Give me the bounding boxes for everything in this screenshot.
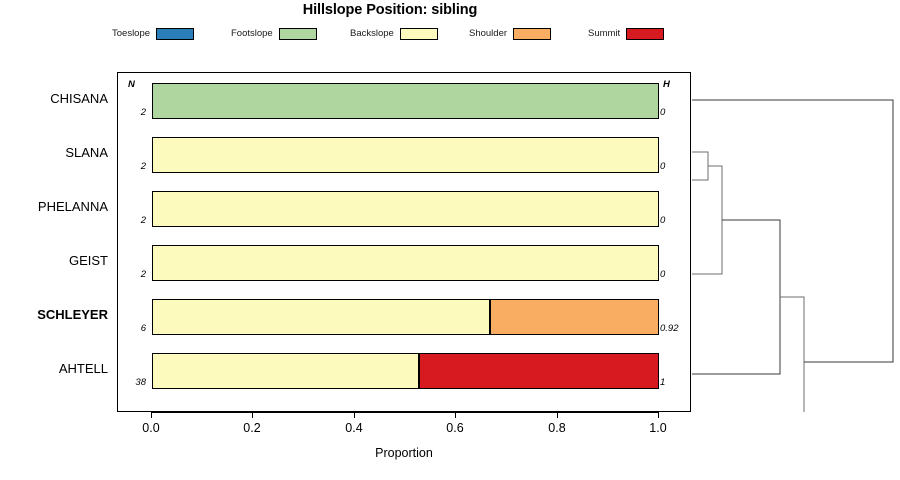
x-tick bbox=[252, 412, 253, 418]
n-value-phelanna: 2 bbox=[118, 215, 146, 226]
legend-label: Toeslope bbox=[112, 26, 150, 42]
bar-segment-backslope bbox=[152, 299, 490, 335]
stacked-bar-phelanna bbox=[152, 191, 659, 227]
category-label-ahtell: AHTELL bbox=[0, 361, 108, 376]
x-tick bbox=[354, 412, 355, 418]
x-tick bbox=[455, 412, 456, 418]
stacked-bar-geist bbox=[152, 245, 659, 281]
legend-swatch-toeslope bbox=[156, 28, 194, 40]
legend-swatch-footslope bbox=[279, 28, 317, 40]
legend-item-footslope: Footslope bbox=[231, 26, 317, 42]
bar-segment-backslope bbox=[152, 353, 419, 389]
h-value-slana: 0 bbox=[660, 161, 690, 172]
legend-label: Footslope bbox=[231, 26, 273, 42]
plot-panel: N H 2020202060.92381 bbox=[117, 72, 691, 412]
bar-segment-backslope bbox=[152, 191, 659, 227]
x-axis-line bbox=[151, 412, 658, 413]
h-value-schleyer: 0.92 bbox=[660, 323, 690, 334]
h-value-ahtell: 1 bbox=[660, 377, 690, 388]
legend-item-summit: Summit bbox=[588, 26, 664, 42]
bar-segment-summit bbox=[419, 353, 659, 389]
legend-label: Summit bbox=[588, 26, 620, 42]
x-tick-label: 0.2 bbox=[227, 421, 277, 435]
category-label-schleyer: SCHLEYER bbox=[0, 307, 108, 322]
x-tick-label: 0.6 bbox=[430, 421, 480, 435]
n-value-chisana: 2 bbox=[118, 107, 146, 118]
page-title: Hillslope Position: sibling bbox=[0, 2, 780, 18]
category-label-geist: GEIST bbox=[0, 253, 108, 268]
x-tick bbox=[151, 412, 152, 418]
legend-item-toeslope: Toeslope bbox=[112, 26, 194, 42]
h-value-phelanna: 0 bbox=[660, 215, 690, 226]
n-value-slana: 2 bbox=[118, 161, 146, 172]
legend-item-backslope: Backslope bbox=[350, 26, 438, 42]
stacked-bar-ahtell bbox=[152, 353, 659, 389]
legend-label: Backslope bbox=[350, 26, 394, 42]
bar-segment-footslope bbox=[152, 83, 659, 119]
x-tick-label: 0.4 bbox=[329, 421, 379, 435]
bar-segment-backslope bbox=[152, 137, 659, 173]
x-tick-label: 0.0 bbox=[126, 421, 176, 435]
chart-figure: Hillslope Position: sibling ToeslopeFoot… bbox=[0, 0, 900, 480]
stacked-bar-schleyer bbox=[152, 299, 659, 335]
h-column-header: H bbox=[663, 79, 670, 90]
n-value-geist: 2 bbox=[118, 269, 146, 280]
x-tick bbox=[557, 412, 558, 418]
legend-label: Shoulder bbox=[469, 26, 507, 42]
bar-segment-backslope bbox=[152, 245, 659, 281]
x-tick-label: 0.8 bbox=[532, 421, 582, 435]
stacked-bar-slana bbox=[152, 137, 659, 173]
legend: ToeslopeFootslopeBackslopeShoulderSummit bbox=[112, 26, 692, 42]
legend-swatch-backslope bbox=[400, 28, 438, 40]
stacked-bar-chisana bbox=[152, 83, 659, 119]
x-tick-label: 1.0 bbox=[633, 421, 683, 435]
legend-swatch-shoulder bbox=[513, 28, 551, 40]
h-value-chisana: 0 bbox=[660, 107, 690, 118]
bar-segment-shoulder bbox=[490, 299, 659, 335]
n-column-header: N bbox=[128, 79, 135, 90]
legend-swatch-summit bbox=[626, 28, 664, 40]
dendrogram bbox=[692, 72, 900, 412]
h-value-geist: 0 bbox=[660, 269, 690, 280]
x-axis-title: Proportion bbox=[117, 446, 691, 460]
n-value-ahtell: 38 bbox=[118, 377, 146, 388]
category-label-phelanna: PHELANNA bbox=[0, 199, 108, 214]
x-tick bbox=[658, 412, 659, 418]
n-value-schleyer: 6 bbox=[118, 323, 146, 334]
legend-item-shoulder: Shoulder bbox=[469, 26, 551, 42]
category-label-chisana: CHISANA bbox=[0, 91, 108, 106]
category-label-slana: SLANA bbox=[0, 145, 108, 160]
